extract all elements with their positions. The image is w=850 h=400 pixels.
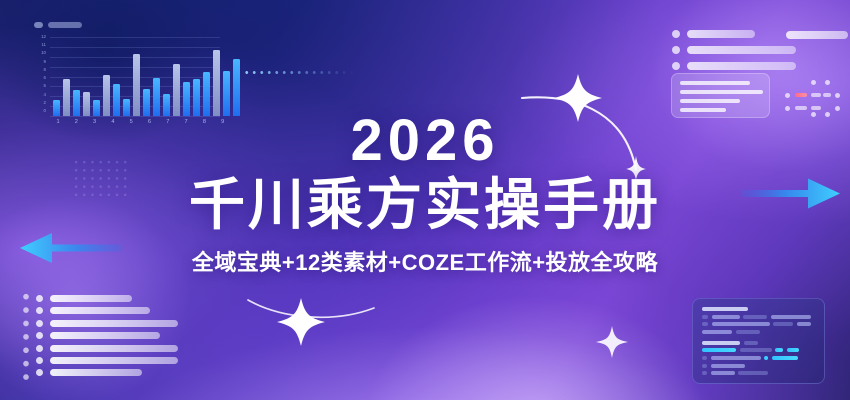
code-token (702, 307, 748, 311)
chart-bar (173, 64, 180, 116)
list-item (36, 295, 178, 302)
list-item (36, 307, 178, 314)
list-item (36, 332, 178, 339)
list-item (36, 369, 178, 376)
code-token (775, 348, 783, 352)
headline-block: 2026 千川乘方实操手册 全域宝典+12类素材+COZE工作流+投放全攻略 (0, 112, 850, 277)
code-token (736, 330, 760, 334)
code-token (738, 371, 768, 375)
sparkle-swoosh-bottom (246, 288, 376, 358)
code-token (772, 356, 798, 360)
chart-bar (213, 50, 220, 116)
status-dot-icon (835, 93, 840, 98)
code-line (702, 348, 815, 352)
status-dot-icon (785, 93, 790, 98)
status-bar-segment (795, 106, 807, 110)
legend-dot-icon (34, 22, 43, 28)
legend-label-bar (48, 22, 82, 28)
checklist-row (672, 62, 796, 70)
banner-title: 千川乘方实操手册 (0, 176, 850, 234)
row-placeholder-bar (687, 62, 796, 70)
row-placeholder-bar (687, 46, 796, 54)
code-snippet-panel (692, 298, 825, 384)
bullet-icon (672, 30, 680, 38)
sparkle-small-icon (592, 322, 632, 362)
chart-y-tick: 12 (41, 35, 46, 39)
code-token (711, 364, 745, 368)
code-token (797, 322, 811, 326)
chart-bars (50, 37, 220, 116)
chart-bar (203, 72, 210, 116)
list-item-bar (50, 307, 150, 314)
chart-bar (193, 79, 200, 116)
code-token (773, 322, 793, 326)
status-bar-segment (795, 93, 807, 97)
code-token (787, 348, 799, 352)
code-token (702, 322, 708, 326)
chart-bar (153, 78, 160, 116)
banner-year: 2026 (0, 112, 850, 170)
chart-y-tick: 2 (44, 101, 46, 105)
dot-column-decor (22, 290, 30, 384)
bottom-left-list (36, 295, 178, 382)
checklist-row (672, 46, 796, 54)
status-dot-icon (785, 106, 790, 111)
status-bar-segment (823, 93, 831, 97)
list-item-bar (50, 357, 178, 364)
list-item (36, 345, 178, 352)
code-token (702, 348, 736, 352)
code-line (702, 371, 815, 375)
chart-legend (34, 22, 82, 28)
code-token (743, 315, 767, 319)
top-right-status-cluster (785, 80, 841, 114)
code-token (702, 371, 707, 375)
code-token (744, 341, 758, 345)
chart-bar (103, 75, 110, 116)
code-token (771, 315, 811, 319)
list-item-bar (50, 332, 160, 339)
bullet-icon (36, 332, 43, 339)
checklist-row (672, 30, 796, 38)
code-line (702, 307, 815, 311)
top-right-pill (786, 31, 848, 39)
chart-y-tick: 11 (41, 43, 46, 47)
code-token (740, 348, 772, 352)
chart-bar (63, 79, 70, 116)
bullet-icon (36, 345, 43, 352)
code-token (702, 330, 732, 334)
code-line (702, 356, 815, 360)
code-token (764, 356, 768, 360)
chart-bar (183, 82, 190, 116)
code-token (711, 371, 735, 375)
bullet-icon (36, 295, 43, 302)
chart-y-tick: 4 (44, 93, 46, 97)
dotted-line-decor (243, 70, 355, 75)
status-dot-icon (835, 106, 840, 111)
status-dot-icon (811, 80, 816, 85)
chart-y-tick: 6 (44, 76, 46, 80)
chart-y-tick: 8 (44, 68, 46, 72)
chart-bar (133, 54, 140, 116)
status-bar-segment (811, 93, 821, 97)
code-token (702, 341, 740, 345)
list-item (36, 320, 178, 327)
code-line (702, 364, 815, 368)
code-token (702, 315, 708, 319)
bullet-icon (36, 307, 43, 314)
panel-placeholder-line (680, 90, 763, 94)
chart-y-tick: 9 (44, 60, 46, 64)
chart-bar (233, 59, 240, 116)
bullet-icon (36, 320, 43, 327)
list-item-bar (50, 369, 142, 376)
top-right-checklist (672, 30, 796, 78)
row-placeholder-bar (687, 30, 755, 38)
code-token (702, 364, 707, 368)
promo-banner: 1211109865420 1234567789 (0, 0, 850, 400)
panel-placeholder-line (680, 99, 740, 103)
list-item-bar (50, 295, 132, 302)
status-bar-segment (811, 106, 821, 110)
chart-y-tick: 5 (44, 84, 46, 88)
chart-y-axis-labels: 1211109865420 (28, 35, 48, 109)
status-dot-icon (825, 80, 830, 85)
list-item-bar (50, 320, 178, 327)
code-token (712, 322, 770, 326)
bullet-icon (36, 357, 43, 364)
bullet-icon (36, 369, 43, 376)
code-line (702, 322, 815, 326)
code-line (702, 341, 815, 345)
code-line (702, 330, 815, 334)
chart-y-tick: 10 (41, 51, 46, 55)
code-token (702, 356, 707, 360)
code-line (702, 315, 815, 319)
list-item-bar (50, 345, 178, 352)
chart-plot-area (50, 37, 220, 116)
panel-placeholder-line (680, 81, 750, 85)
list-item (36, 357, 178, 364)
code-token (712, 315, 740, 319)
code-token (711, 356, 761, 360)
chart-bar (223, 71, 230, 116)
banner-subtitle: 全域宝典+12类素材+COZE工作流+投放全攻略 (0, 245, 850, 277)
